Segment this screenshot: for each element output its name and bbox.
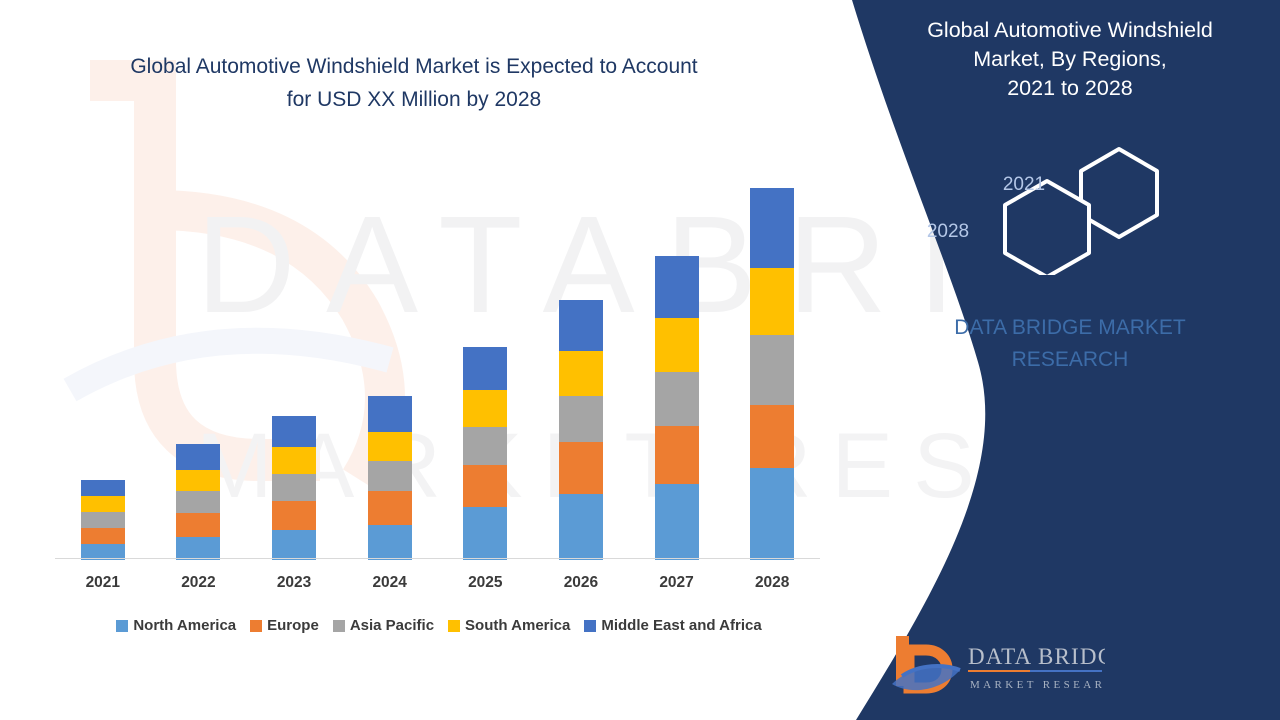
side-panel-title: Global Automotive Windshield Market, By … [890, 16, 1250, 103]
bar-segment [176, 537, 220, 560]
bar-segment [463, 347, 507, 390]
x-axis-line [55, 558, 820, 559]
hexagon-2021-icon [1081, 149, 1157, 237]
bar-segment [655, 484, 699, 560]
chart-region: Global Automotive Windshield Market is E… [0, 0, 860, 720]
bar-segment [750, 188, 794, 268]
hexagon-2021-label: 2021 [988, 174, 1060, 196]
bar-column [272, 416, 316, 560]
x-axis-label: 2028 [737, 574, 807, 592]
bar-column [655, 256, 699, 560]
bar-segment [750, 468, 794, 560]
brand-line2: RESEARCH [1012, 348, 1129, 371]
legend-swatch-icon [116, 620, 128, 632]
bar-segment [81, 496, 125, 512]
chart-title: Global Automotive Windshield Market is E… [60, 50, 768, 116]
legend-swatch-icon [250, 620, 262, 632]
x-axis-label: 2023 [259, 574, 329, 592]
stacked-bar-plot [55, 170, 820, 560]
bar-segment [750, 335, 794, 405]
bar-segment [655, 318, 699, 372]
logo-rule-orange [968, 670, 1030, 672]
bar-segment [368, 396, 412, 432]
bar-column [81, 480, 125, 560]
chart-legend: North AmericaEuropeAsia PacificSouth Ame… [55, 617, 823, 634]
bar-column [463, 347, 507, 560]
bar-column [176, 444, 220, 560]
x-axis-label: 2022 [163, 574, 233, 592]
bar-segment [368, 461, 412, 491]
bar-segment [559, 351, 603, 396]
bar-segment [368, 491, 412, 525]
bar-column [750, 188, 794, 560]
x-axis-label: 2021 [68, 574, 138, 592]
bar-segment [463, 465, 507, 507]
logo-wordmark-primary: DATA BRIDGE [968, 644, 1105, 669]
data-bridge-logo: DATA BRIDGE MARKET RESEARCH [890, 632, 1105, 698]
bar-segment [463, 427, 507, 465]
legend-item[interactable]: Middle East and Africa [584, 617, 761, 634]
bar-segment [750, 268, 794, 335]
bar-column [368, 396, 412, 560]
side-panel-title-line3: 2021 to 2028 [1007, 76, 1133, 100]
legend-label: Europe [267, 617, 319, 634]
bar-segment [81, 480, 125, 496]
legend-label: South America [465, 617, 570, 634]
legend-item[interactable]: South America [448, 617, 570, 634]
bar-segment [463, 390, 507, 427]
bar-segment [559, 396, 603, 442]
bar-segment [272, 416, 316, 447]
bar-segment [176, 470, 220, 491]
logo-rule-blue [1030, 670, 1102, 672]
hexagon-pair-graphic [985, 145, 1175, 275]
side-panel: Global Automotive Windshield Market, By … [890, 0, 1280, 720]
infographic-slide: DATABRIDGE MARKET RESEARCH Global Automo… [0, 0, 1280, 720]
x-axis-label: 2024 [355, 574, 425, 592]
legend-swatch-icon [448, 620, 460, 632]
bar-segment [176, 444, 220, 470]
bar-segment [176, 513, 220, 537]
bar-segment [176, 491, 220, 513]
brand-line1: DATA BRIDGE MARKET [954, 316, 1185, 339]
bar-segment [559, 442, 603, 494]
chart-title-line1: Global Automotive Windshield Market is E… [130, 55, 697, 78]
bar-segment [81, 528, 125, 544]
bar-segment [368, 432, 412, 461]
x-axis-label: 2027 [642, 574, 712, 592]
bar-segment [750, 405, 794, 468]
hexagon-2028-label: 2028 [912, 221, 984, 243]
legend-item[interactable]: Europe [250, 617, 319, 634]
x-axis-label: 2026 [546, 574, 616, 592]
bar-segment [655, 426, 699, 484]
bar-segment [655, 256, 699, 318]
legend-label: North America [133, 617, 236, 634]
legend-item[interactable]: Asia Pacific [333, 617, 434, 634]
logo-wordmark-secondary: MARKET RESEARCH [970, 679, 1105, 691]
legend-swatch-icon [584, 620, 596, 632]
legend-label: Asia Pacific [350, 617, 434, 634]
bar-segment [559, 494, 603, 560]
chart-title-line2: for USD XX Million by 2028 [287, 88, 541, 111]
bar-segment [655, 372, 699, 426]
bar-segment [272, 447, 316, 474]
bar-segment [81, 512, 125, 528]
bar-column [559, 300, 603, 560]
side-panel-title-line2: Market, By Regions, [973, 47, 1167, 71]
x-axis-label: 2025 [450, 574, 520, 592]
bar-segment [463, 507, 507, 560]
legend-swatch-icon [333, 620, 345, 632]
x-axis-labels: 20212022202320242025202620272028 [55, 574, 820, 600]
bar-segment [272, 474, 316, 501]
bar-segment [272, 530, 316, 560]
legend-item[interactable]: North America [116, 617, 236, 634]
bar-segment [368, 525, 412, 560]
side-panel-title-line1: Global Automotive Windshield [927, 18, 1213, 42]
legend-label: Middle East and Africa [601, 617, 761, 634]
bar-segment [559, 300, 603, 351]
brand-name-text: DATA BRIDGE MARKET RESEARCH [890, 312, 1250, 376]
bar-segment [272, 501, 316, 530]
